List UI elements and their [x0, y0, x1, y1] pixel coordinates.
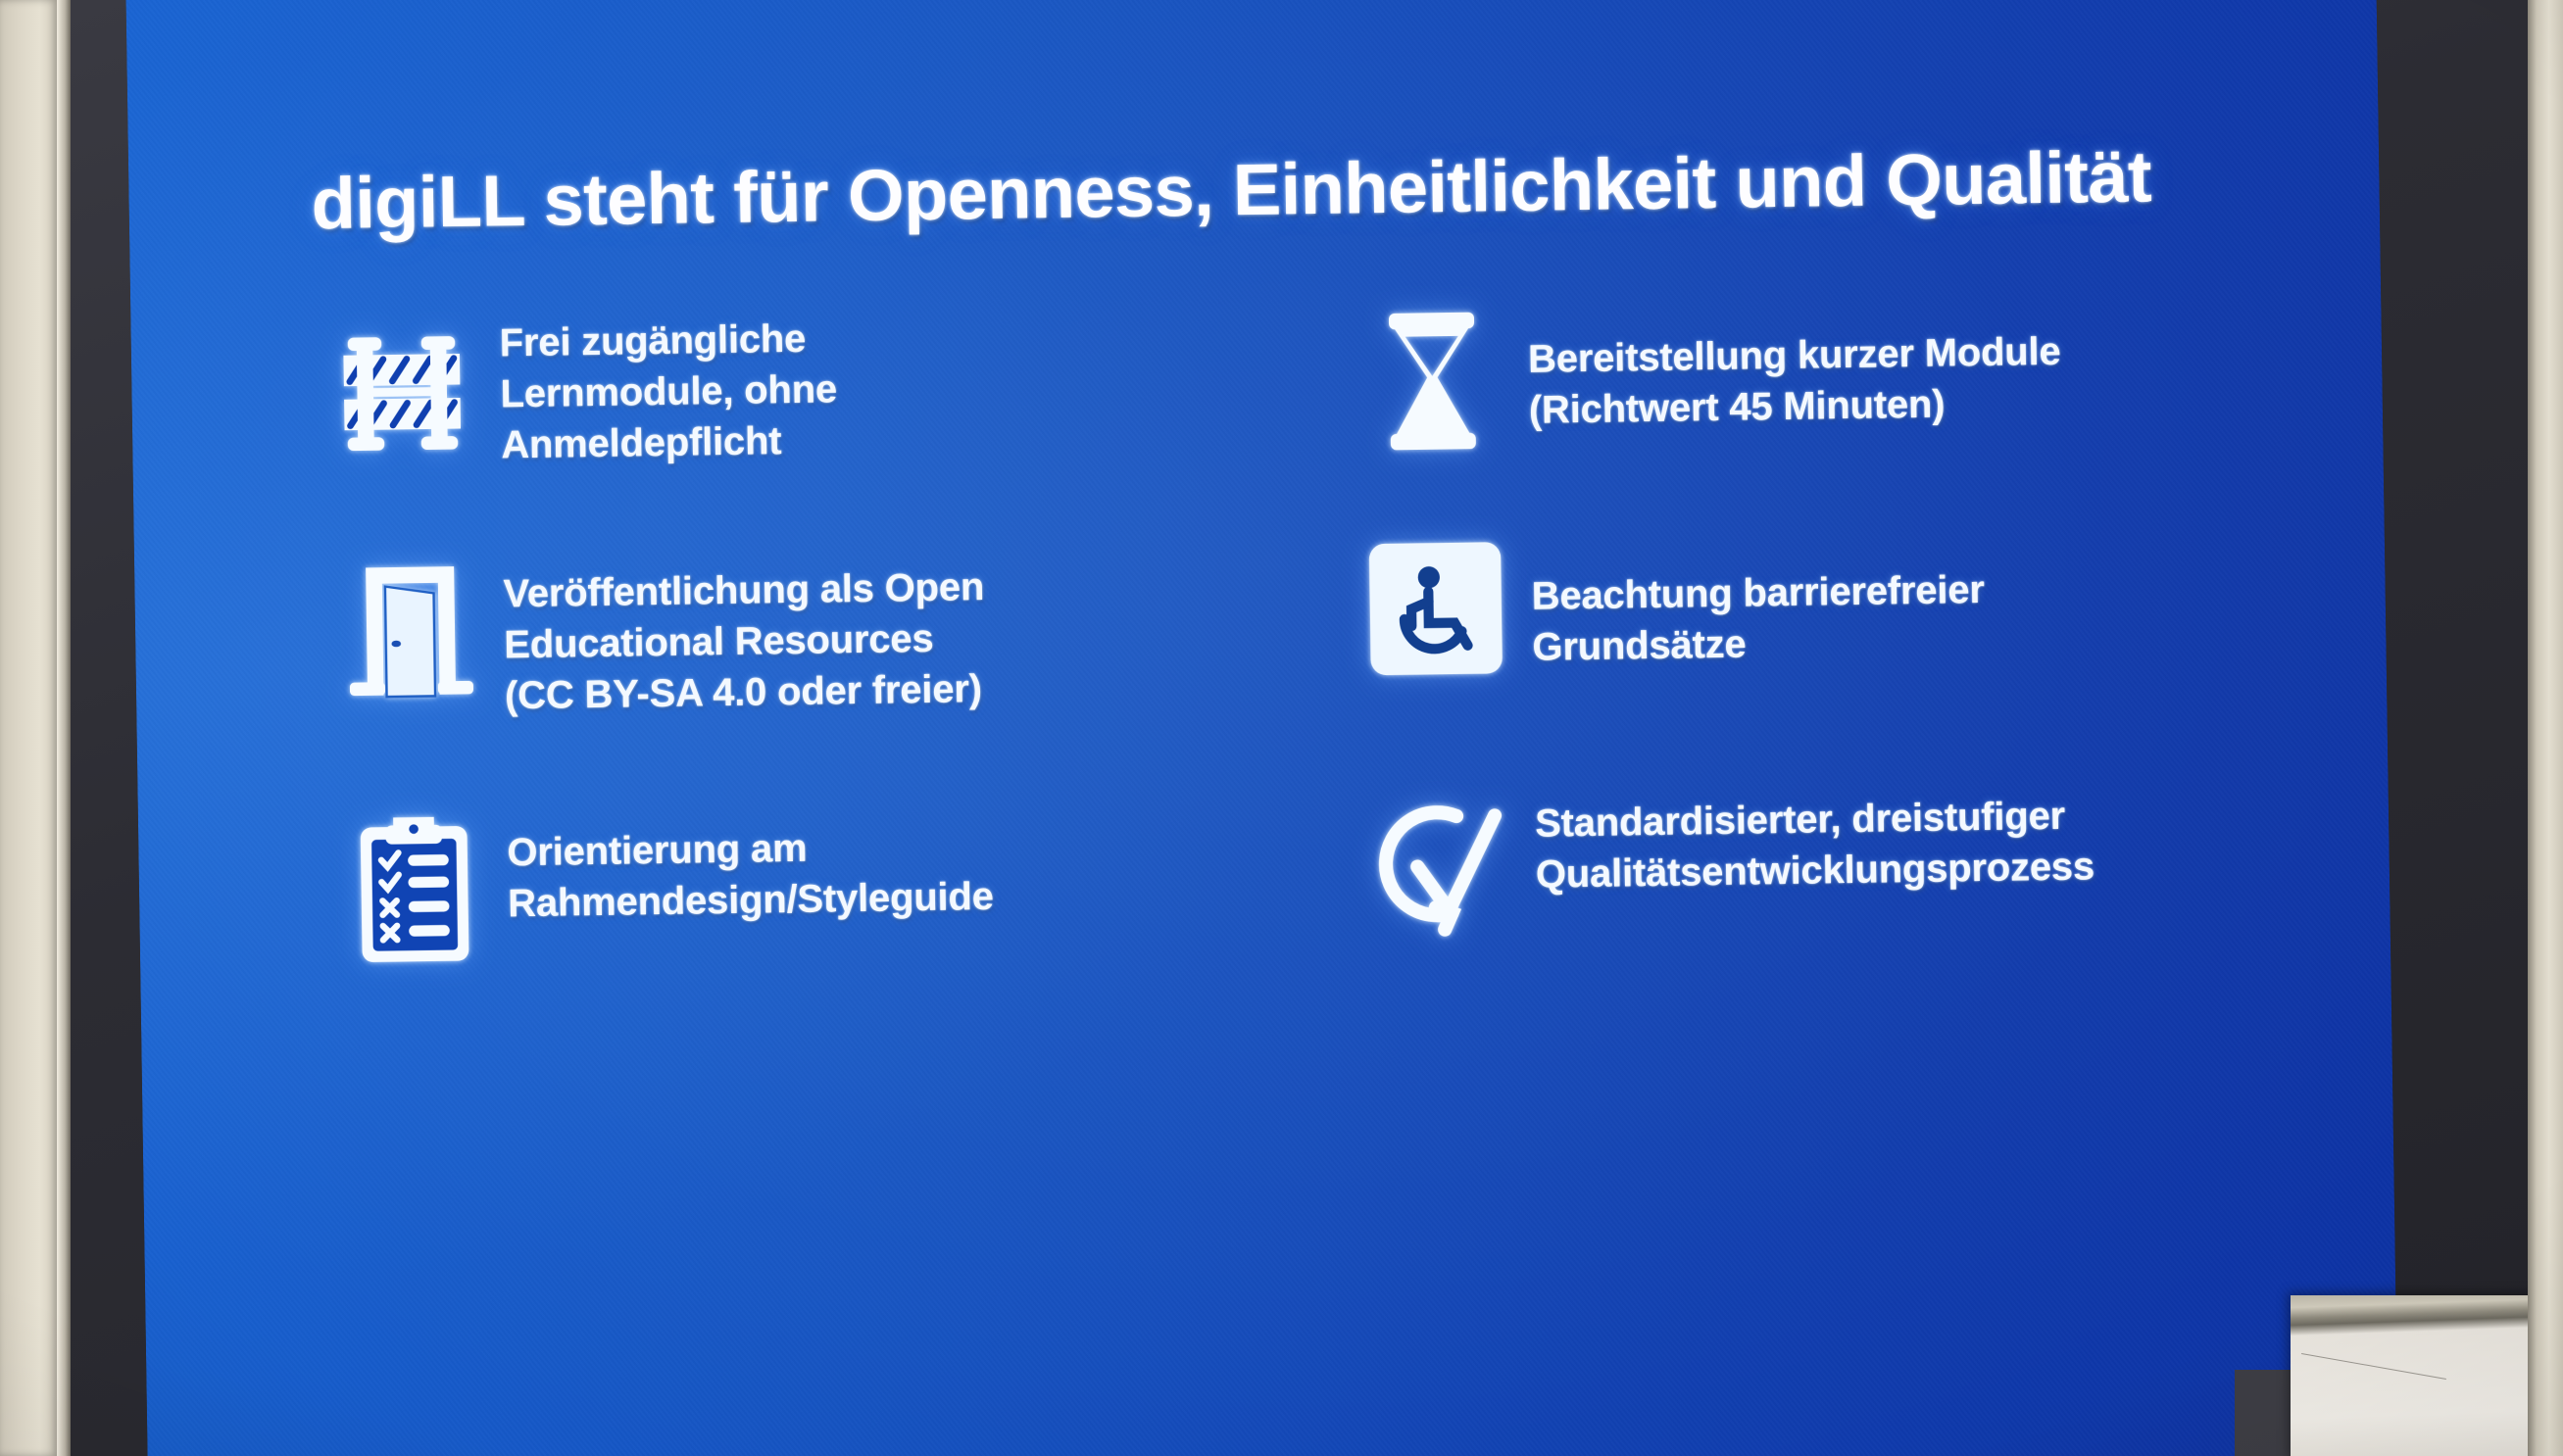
flipchart-corner [2291, 1295, 2563, 1456]
projected-slide: digiLL steht für Openness, Einheitlichke… [125, 0, 2398, 1456]
feature-item-barrierefreiheit: Beachtung barrierefreier Grundsätze [1339, 512, 2309, 754]
feature-text: Beachtung barrierefreier Grundsätze [1531, 512, 2308, 673]
photo-of-projected-slide: digiLL steht für Openness, Einheitlichke… [0, 0, 2563, 1456]
cycle-checkmark-icon [1342, 752, 1538, 988]
feature-item-qualitaetsentwicklungsprozess: Standardisierter, dreistufiger Qualitäts… [1342, 740, 2312, 982]
feature-line: Rahmendesign/Styleguide [508, 866, 1290, 929]
feature-item-bereitstellung-kurzer-module: Bereitstellung kurzer Module (Richtwert … [1335, 285, 2305, 527]
feature-item-rahmendesign-styleguide: Orientierung am Rahmendesign/Styleguide [320, 755, 1290, 997]
wall-right-strip [2528, 0, 2563, 1456]
feature-text: Standardisierter, dreistufiger Qualitäts… [1534, 740, 2311, 900]
wheelchair-accessibility-icon [1339, 524, 1534, 735]
feature-text: Veröffentlichung als Open Educational Re… [503, 528, 1287, 722]
road-barrier-icon [313, 312, 502, 516]
feature-item-veroeffentlichung-als-oer: Veröffentlichung als Open Educational Re… [317, 528, 1287, 770]
feature-text: Orientierung am Rahmendesign/Styleguide [506, 755, 1289, 930]
hourglass-icon [1335, 297, 1530, 502]
wall-left-strip [0, 0, 57, 1456]
wall-left-edge [57, 0, 71, 1456]
clipboard-checklist-icon [320, 766, 510, 1008]
page-title: digiLL steht für Openness, Einheitlichke… [311, 137, 2272, 242]
feature-item-frei-zugaengliche-lernmodule: Frei zugängliche Lernmodule, ohne Anmeld… [313, 301, 1283, 543]
feature-line: (Richtwert 45 Minuten) [1528, 373, 2304, 436]
feature-text: Bereitstellung kurzer Module (Richtwert … [1527, 285, 2304, 436]
feature-line: (CC BY-SA 4.0 oder freier) [505, 659, 1287, 722]
feature-line: Anmeldepflicht [501, 409, 1283, 471]
wall-shadow [2235, 1370, 2293, 1456]
feature-grid: Frei zugängliche Lernmodule, ohne Anmeld… [313, 285, 2312, 996]
feature-text: Frei zugängliche Lernmodule, ohne Anmeld… [499, 301, 1282, 471]
feature-line: Grundsätze [1532, 610, 2308, 673]
open-door-icon [317, 539, 506, 752]
feature-line: Qualitätsentwicklungsprozess [1536, 838, 2312, 900]
